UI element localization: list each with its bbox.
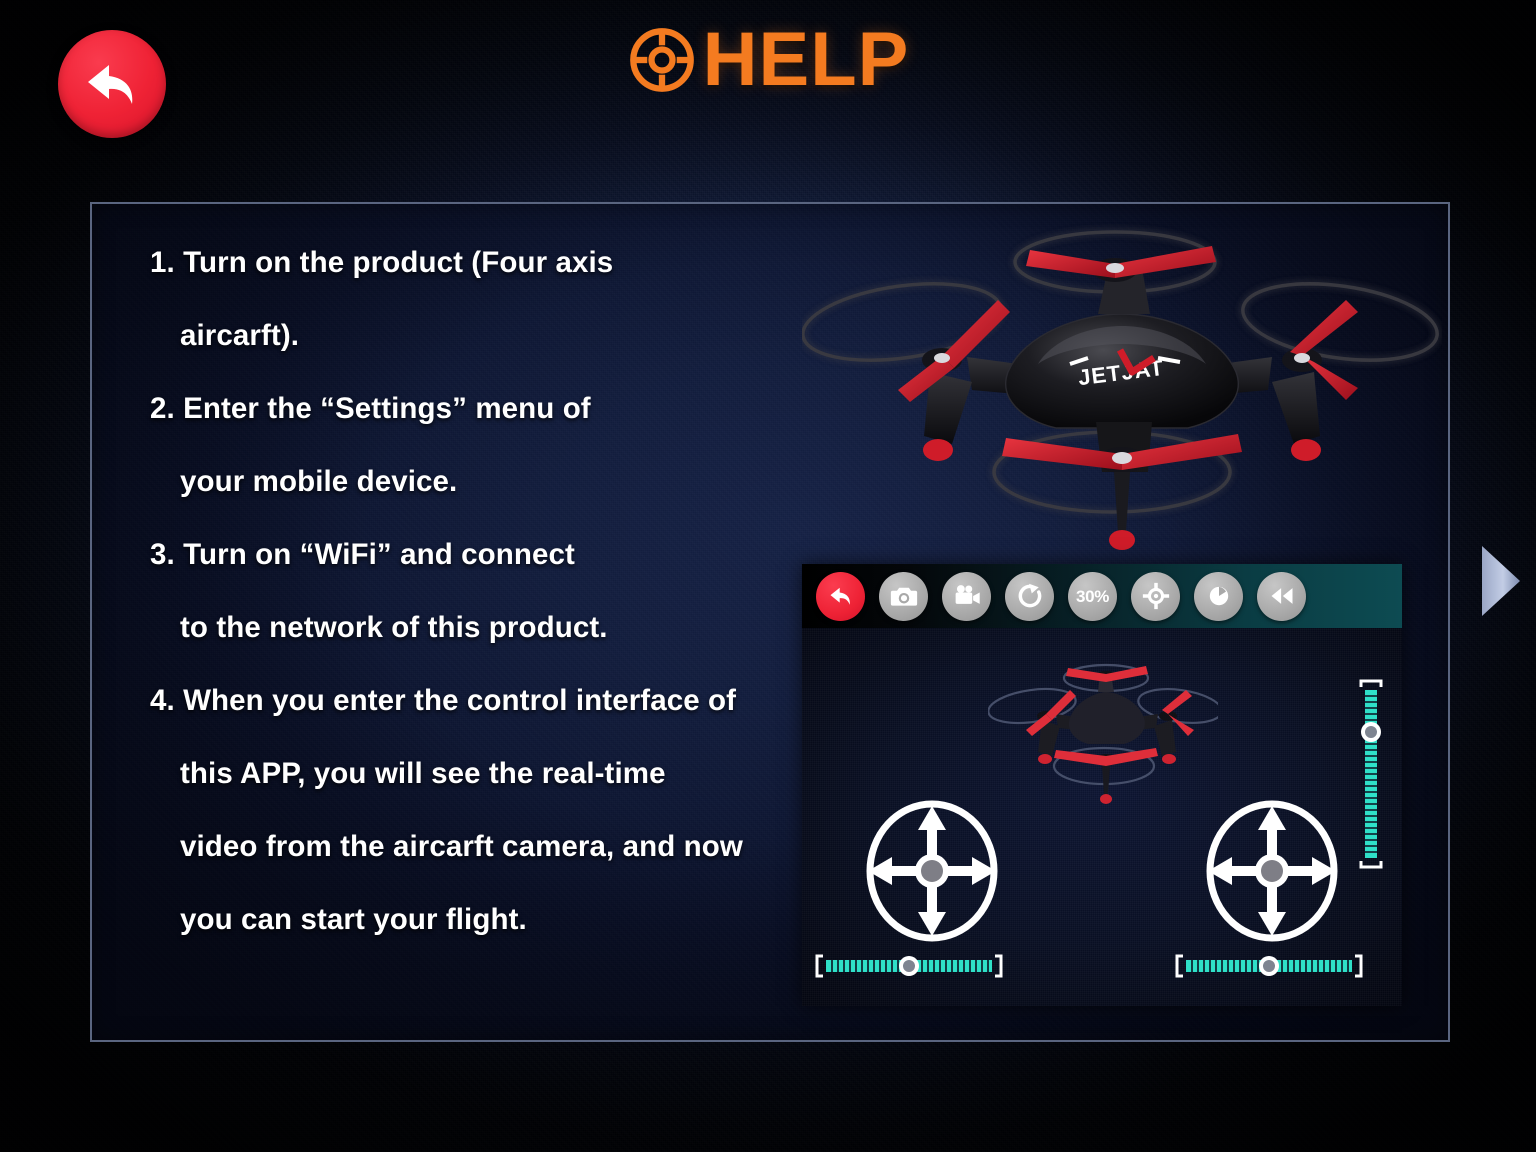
video-drone-subject	[988, 656, 1218, 816]
lifebuoy-icon	[627, 25, 697, 95]
instruction-step-2: 2. Enter the “Settings” menu of your mob…	[150, 372, 830, 518]
camera-icon	[890, 582, 918, 610]
page-header: HELP	[0, 22, 1536, 98]
app-toolbar: 30%	[802, 564, 1402, 628]
instruction-step-4: 4. When you enter the control interface …	[150, 664, 830, 956]
video-camera-icon	[953, 582, 981, 610]
crosshair-icon	[1142, 582, 1170, 610]
app-calibrate-button[interactable]	[1131, 572, 1180, 621]
joystick-left[interactable]	[860, 796, 1004, 946]
drone-product-image: JETJAT	[802, 222, 1442, 567]
page-title: HELP	[703, 22, 910, 98]
help-content-panel: 1. Turn on the product (Four axis aircar…	[90, 202, 1450, 1042]
app-headless-button[interactable]	[1194, 572, 1243, 621]
app-return-home-button[interactable]	[1257, 572, 1306, 621]
app-speed-button[interactable]: 30%	[1068, 572, 1117, 621]
app-video-button[interactable]	[942, 572, 991, 621]
app-interface-screenshot: 30%	[802, 564, 1402, 1006]
trim-slider-right[interactable]	[1358, 678, 1384, 870]
trim-slider-bottom-left[interactable]	[814, 953, 1004, 979]
triangle-right-icon	[1478, 544, 1522, 618]
instruction-list: 1. Turn on the product (Four axis aircar…	[150, 226, 830, 956]
instruction-step-3: 3. Turn on “WiFi” and connect to the net…	[150, 518, 830, 664]
trim-slider-bottom-right[interactable]	[1174, 953, 1364, 979]
rotate-icon	[1016, 582, 1044, 610]
app-back-button[interactable]	[816, 572, 865, 621]
speed-value-label: 30%	[1076, 588, 1109, 605]
joystick-right[interactable]	[1200, 796, 1344, 946]
app-photo-button[interactable]	[879, 572, 928, 621]
app-flip-button[interactable]	[1005, 572, 1054, 621]
back-arrow-icon	[827, 582, 855, 610]
app-live-video-feed	[802, 628, 1402, 1006]
next-page-button[interactable]	[1478, 544, 1522, 618]
instruction-step-1: 1. Turn on the product (Four axis aircar…	[150, 226, 830, 372]
rewind-icon	[1268, 582, 1296, 610]
gyro-icon	[1205, 582, 1233, 610]
